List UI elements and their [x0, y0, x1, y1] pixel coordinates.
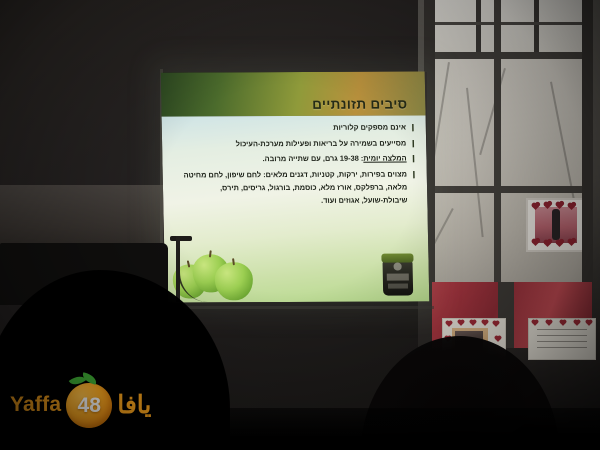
- heart-poster-window: [526, 198, 586, 252]
- window-mullion: [494, 0, 501, 296]
- window: [430, 0, 590, 296]
- bullet-text: מצוים בפירות, ירקות, קטניות, דגנים מלאים…: [175, 169, 408, 208]
- slide-bullet-list: ❙ אינם מספקים קלוריות ❙ מסייעים בשמירה ע…: [174, 121, 418, 210]
- window-rail-top: [430, 52, 590, 59]
- logo-latin-text: Yaffa: [10, 393, 61, 417]
- bullet-marker-icon: ❙: [411, 170, 418, 208]
- window-sheet-covering: [430, 58, 590, 296]
- list-item: ❙ מסייעים בשמירה על בריאות ופעילות מערכת…: [174, 137, 416, 151]
- window-transom: [430, 0, 590, 52]
- bullet-underlined-prefix: המלצה יומית: [363, 154, 406, 163]
- supplement-jar-image: [382, 253, 413, 295]
- slide-title: סיבים תזונתיים: [312, 97, 407, 112]
- wall-poster-certificate: [528, 318, 596, 360]
- projector-mount-arm: [170, 236, 192, 241]
- bullet-text: מסייעים בשמירה על בריאות ופעילות מערכת-ה…: [174, 137, 406, 151]
- window-jamb-right: [582, 0, 593, 296]
- list-item: ❙ המלצה יומית: 19-38 גרם, עם שתייה מרובה…: [174, 153, 416, 167]
- logo-arabic-text: يافا: [117, 390, 151, 420]
- bullet-text: אינם מספקים קלוריות: [174, 122, 406, 136]
- bullet-text: המלצה יומית: 19-38 גרם, עם שתייה מרובה.: [174, 153, 406, 167]
- watermark-logo: Yaffa 48 يافا: [10, 376, 196, 434]
- bullet-marker-icon: ❙: [410, 122, 416, 135]
- screenshot-scene: סיבים תזונתיים ❙ אינם מספקים קלוריות ❙ מ…: [0, 0, 600, 450]
- bullet-rest: : 19-38 גרם, עם שתייה מרובה.: [262, 154, 363, 163]
- window-rail-mid: [430, 186, 590, 193]
- bullet-marker-icon: ❙: [410, 138, 416, 151]
- bullet-marker-icon: ❙: [410, 154, 416, 167]
- list-item: ❙ מצוים בפירות, ירקות, קטניות, דגנים מלא…: [175, 169, 418, 208]
- slide-title-band: סיבים תזונתיים: [161, 71, 426, 116]
- logo-badge-number: 48: [78, 395, 101, 416]
- orange-fruit-icon: 48: [66, 383, 112, 428]
- list-item: ❙ אינם מספקים קלוריות: [174, 121, 416, 135]
